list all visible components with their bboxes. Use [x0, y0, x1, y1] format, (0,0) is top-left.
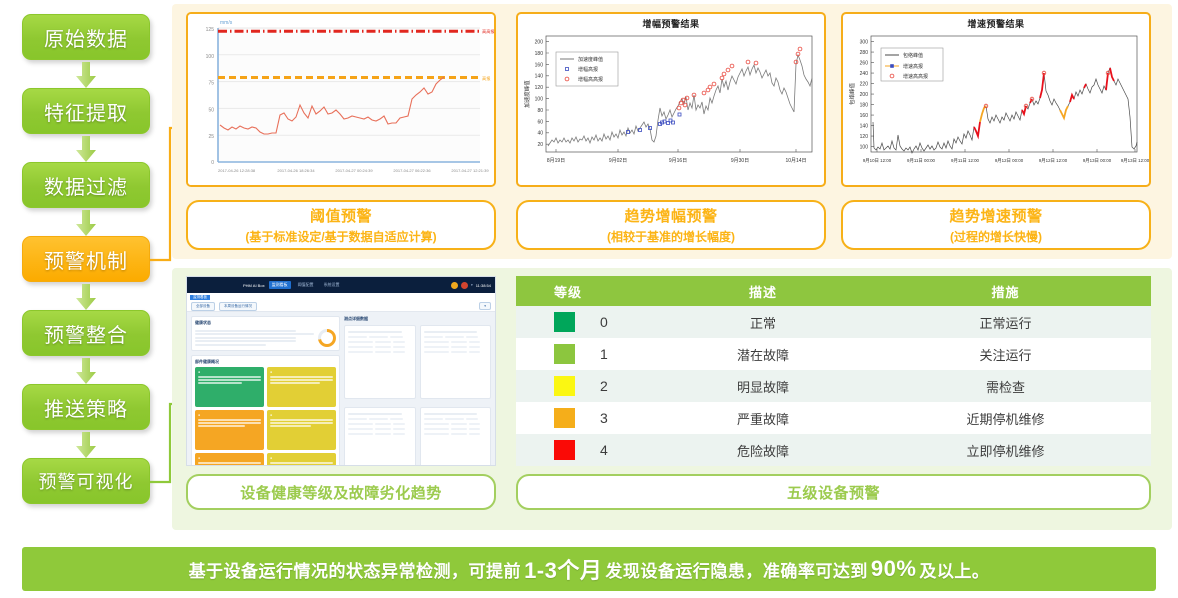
dashboard-tab-settings[interactable]: 系统设置: [321, 281, 343, 289]
caption-sub: (过程的增长快慢): [950, 228, 1042, 245]
action-cell: 正常运行: [860, 306, 1151, 338]
grade-color-swatch: [554, 440, 575, 460]
health-score-gauge: [318, 329, 336, 347]
flow-arrow-5: [75, 358, 97, 384]
description-cell: 危险故障: [666, 434, 860, 466]
action-cell: 需检查: [860, 370, 1151, 402]
svg-text:9月11日 12:00: 9月11日 12:00: [951, 158, 980, 164]
svg-text:160: 160: [535, 62, 544, 68]
alarm-mechanism-panel: 125 100 75 50 25 0 mm/s 高高报 高报 2017-04-2…: [172, 4, 1172, 259]
rate-alarm-caption: 趋势增速预警 (过程的增长快慢): [841, 200, 1151, 250]
svg-text:增幅高高报: 增幅高高报: [578, 76, 603, 83]
component-tile[interactable]: ●: [195, 367, 264, 407]
threshold-chart-card[interactable]: 125 100 75 50 25 0 mm/s 高高报 高报 2017-04-2…: [186, 12, 496, 187]
dashboard-body: 健康状态 部件健康概况 ●: [187, 312, 495, 466]
flow-node-raw-data[interactable]: 原始数据: [22, 14, 150, 60]
flow-arrow-3: [75, 210, 97, 236]
text-line: [195, 330, 296, 332]
level-value: 3: [600, 410, 608, 426]
svg-text:200: 200: [860, 92, 869, 98]
flow-node-alarm-mechanism[interactable]: 预警机制: [22, 236, 150, 282]
dashboard-topbar-right: ▾ 11:38:54: [451, 282, 491, 289]
card-title: 健康状态: [195, 320, 336, 326]
col-header-level: 等级: [516, 276, 666, 306]
svg-text:高报: 高报: [482, 75, 491, 82]
grade-color-swatch: [554, 376, 575, 396]
component-tile[interactable]: ●: [267, 410, 336, 450]
caption-title: 设备健康等级及故障劣化趋势: [240, 482, 442, 503]
alarm-visualization-panel: PHM AI Box 监测看板 阈值配置 系统设置 ▾ 11:38:54 监测看…: [172, 268, 1172, 530]
col-header-action: 措施: [860, 276, 1151, 306]
component-health-card[interactable]: 部件健康概况 ● ● ● ● ● ●: [191, 355, 340, 466]
banner-highlight-accuracy: 90%: [871, 556, 917, 582]
dashboard-caption: 设备健康等级及故障劣化趋势: [186, 474, 496, 510]
amplitude-chart-card[interactable]: 增幅预警结果 200180160 140120100 806040 20 加速度…: [516, 12, 826, 187]
svg-text:9月12日 00:00: 9月12日 00:00: [995, 158, 1024, 164]
svg-text:加速度峰值: 加速度峰值: [578, 56, 603, 63]
breadcrumb: 监测看板: [190, 295, 210, 300]
svg-text:9月30日: 9月30日: [731, 158, 749, 164]
amplitude-chart: 200180160 140120100 806040 20 加速度峰值: [518, 30, 824, 187]
shield-icon[interactable]: [451, 282, 458, 289]
rate-chart-card[interactable]: 增速预警结果 300280260 240220200 180160140 120…: [841, 12, 1151, 187]
dashboard-clock: 11:38:54: [476, 283, 491, 288]
svg-text:2017-04-27 12:21:39: 2017-04-27 12:21:39: [451, 168, 489, 173]
svg-text:加速度峰值: 加速度峰值: [523, 80, 531, 108]
amplitude-alarm-caption: 趋势增幅预警 (相较于基准的增长幅度): [516, 200, 826, 250]
caption-sub: (基于标准设定/基于数据自适应计算): [245, 228, 436, 245]
svg-text:9月13日 12:00: 9月13日 12:00: [1121, 158, 1149, 164]
filter-week-status-button[interactable]: 本周设备运行情况: [219, 302, 257, 311]
measurement-table[interactable]: [420, 325, 492, 399]
dashboard-tab-threshold[interactable]: 阈值配置: [295, 281, 317, 289]
grade-color-swatch: [554, 408, 575, 428]
flow-node-label: 特征提取: [44, 97, 128, 126]
dashboard-tab-monitor[interactable]: 监测看板: [269, 281, 291, 289]
caption-title: 趋势增速预警: [949, 205, 1042, 226]
svg-text:300: 300: [860, 40, 869, 46]
action-cell: 关注运行: [860, 338, 1151, 370]
dashboard-left-column: 健康状态 部件健康概况 ●: [191, 316, 340, 466]
flow-arrow-2: [75, 136, 97, 162]
svg-text:2017-04-27 00:24:39: 2017-04-27 00:24:39: [335, 168, 373, 173]
caption-title: 五级设备预警: [787, 482, 880, 503]
measurement-table[interactable]: [344, 407, 416, 466]
banner-part3: 及以上。: [919, 557, 989, 582]
level-cell: 3: [516, 402, 666, 434]
svg-text:80: 80: [537, 108, 543, 114]
flow-arrow-1: [75, 62, 97, 88]
flow-node-alarm-visualization[interactable]: 预警可视化: [22, 458, 150, 504]
flow-node-label: 预警整合: [44, 319, 128, 348]
svg-text:160: 160: [860, 113, 869, 119]
health-status-card[interactable]: 健康状态: [191, 316, 340, 351]
caption-title: 趋势增幅预警: [624, 205, 717, 226]
flow-arrow-6: [75, 432, 97, 458]
flow-node-alarm-integration[interactable]: 预警整合: [22, 310, 150, 356]
table-row[interactable]: 2 明显故障 需检查: [516, 370, 1151, 402]
flow-node-feature-extraction[interactable]: 特征提取: [22, 88, 150, 134]
level-cell: 0: [516, 306, 666, 338]
svg-text:25: 25: [208, 134, 214, 140]
col-header-description: 描述: [666, 276, 860, 306]
text-line: [195, 333, 314, 335]
component-tile[interactable]: ●: [195, 410, 264, 450]
description-cell: 正常: [666, 306, 860, 338]
svg-text:0: 0: [211, 160, 214, 166]
grade-color-swatch: [554, 344, 575, 364]
svg-text:240: 240: [860, 71, 869, 77]
svg-text:140: 140: [860, 124, 869, 130]
card-title: 测点详细数据: [344, 316, 491, 322]
svg-text:9月13日 00:00: 9月13日 00:00: [1083, 158, 1112, 164]
flow-node-label: 预警机制: [44, 245, 128, 274]
component-tile[interactable]: ●: [267, 453, 336, 466]
svg-text:增速高高报: 增速高高报: [903, 73, 928, 80]
text-line: [195, 337, 296, 339]
dashboard-user[interactable]: ▾: [471, 283, 473, 287]
svg-text:100: 100: [535, 97, 544, 103]
threshold-chart: 125 100 75 50 25 0 mm/s 高高报 高报 2017-04-2…: [188, 14, 494, 185]
caption-sub: (相较于基准的增长幅度): [607, 228, 735, 245]
svg-text:包络峰值: 包络峰值: [848, 83, 856, 106]
svg-text:200: 200: [535, 40, 544, 46]
flow-node-label: 预警可视化: [39, 468, 134, 494]
svg-text:75: 75: [208, 81, 214, 87]
dashboard-logo: PHM AI Box: [243, 283, 265, 288]
level-cell: 1: [516, 338, 666, 370]
svg-text:9月16日: 9月16日: [669, 158, 687, 164]
svg-text:180: 180: [535, 51, 544, 57]
svg-text:180: 180: [860, 103, 869, 109]
grade-table-caption: 五级设备预警: [516, 474, 1151, 510]
svg-text:20: 20: [537, 142, 543, 148]
description-cell: 严重故障: [666, 402, 860, 434]
component-tile[interactable]: ●: [267, 367, 336, 407]
card-title: 部件健康概况: [195, 359, 336, 365]
svg-text:2017-04-26 18:26:34: 2017-04-26 18:26:34: [277, 168, 315, 173]
text-line: [195, 344, 266, 346]
dashboard-right-column: 测点详细数据: [344, 316, 491, 466]
svg-text:100: 100: [860, 145, 869, 151]
svg-text:9月11日 00:00: 9月11日 00:00: [907, 158, 936, 164]
description-cell: 潜在故障: [666, 338, 860, 370]
threshold-alarm-caption: 阈值预警 (基于标准设定/基于数据自适应计算): [186, 200, 496, 250]
text-line: [195, 340, 296, 342]
filter-all-devices-button[interactable]: 全部设备: [191, 302, 215, 311]
svg-text:220: 220: [860, 82, 869, 88]
table-row[interactable]: 1 潜在故障 关注运行: [516, 338, 1151, 370]
svg-text:280: 280: [860, 50, 869, 56]
svg-text:2017-04-27 06:22:36: 2017-04-27 06:22:36: [393, 168, 431, 173]
description-cell: 明显故障: [666, 370, 860, 402]
device-grade-table: 等级 描述 措施 0 正常 正常运行 1 潜在故障 关注运行: [516, 276, 1151, 466]
flow-node-push-strategy[interactable]: 推送策略: [22, 384, 150, 430]
flow-node-data-filter[interactable]: 数据过滤: [22, 162, 150, 208]
caption-title: 阈值预警: [310, 205, 372, 226]
table-row[interactable]: 0 正常 正常运行: [516, 306, 1151, 338]
measurement-table-grid: [344, 325, 491, 466]
svg-text:9月10日 12:00: 9月10日 12:00: [863, 158, 892, 164]
svg-text:50: 50: [208, 107, 214, 113]
action-cell: 立即停机维修: [860, 434, 1151, 466]
alarm-icon[interactable]: [461, 282, 468, 289]
svg-text:增幅高报: 增幅高报: [578, 66, 598, 73]
svg-text:100: 100: [206, 54, 215, 60]
measurement-table[interactable]: [344, 325, 416, 399]
flow-node-label: 数据过滤: [44, 171, 128, 200]
svg-text:9月02日: 9月02日: [609, 158, 627, 164]
level-value: 2: [600, 378, 608, 394]
summary-banner: 基于设备运行情况的状态异常检测，可提前 1-3个月 发现设备运行隐患，准确率可达…: [22, 547, 1156, 591]
table-row[interactable]: 3 严重故障 近期停机维修: [516, 402, 1151, 434]
flow-node-label: 推送策略: [44, 393, 128, 422]
amplitude-chart-title: 增幅预警结果: [518, 14, 824, 30]
svg-text:60: 60: [537, 119, 543, 125]
grade-color-swatch: [554, 312, 575, 332]
svg-text:260: 260: [860, 61, 869, 67]
svg-text:mm/s: mm/s: [220, 20, 233, 26]
level-cell: 4: [516, 434, 666, 466]
health-dashboard-screenshot[interactable]: PHM AI Box 监测看板 阈值配置 系统设置 ▾ 11:38:54 监测看…: [186, 276, 496, 466]
svg-text:120: 120: [535, 85, 544, 91]
table-header-row: 等级 描述 措施: [516, 276, 1151, 306]
dashboard-toolbar: 全部设备 本周设备运行情况 ▾: [187, 301, 495, 312]
device-select[interactable]: ▾: [479, 302, 491, 310]
measurement-table[interactable]: [420, 407, 492, 466]
svg-text:125: 125: [206, 27, 215, 33]
dashboard-topbar: PHM AI Box 监测看板 阈值配置 系统设置 ▾ 11:38:54: [187, 277, 495, 293]
banner-highlight-months: 1-3个月: [524, 553, 602, 585]
svg-text:8月19日: 8月19日: [547, 158, 565, 164]
banner-part2: 发现设备运行隐患，准确率可达到: [605, 557, 868, 582]
level-cell: 2: [516, 370, 666, 402]
component-tile-grid: ● ● ● ● ● ●: [195, 367, 336, 466]
svg-text:9月12日 12:00: 9月12日 12:00: [1039, 158, 1068, 164]
svg-text:120: 120: [860, 134, 869, 140]
component-tile[interactable]: ●: [195, 453, 264, 466]
svg-text:2017-04-26 12:28:38: 2017-04-26 12:28:38: [218, 168, 256, 173]
flow-arrow-4: [75, 284, 97, 310]
svg-text:10月14日: 10月14日: [785, 158, 806, 164]
svg-text:40: 40: [537, 131, 543, 137]
dashboard-breadcrumb-bar: 监测看板: [187, 293, 495, 301]
svg-text:增速高报: 增速高报: [903, 63, 923, 70]
level-value: 0: [600, 314, 608, 330]
banner-part1: 基于设备运行情况的状态异常检测，可提前: [189, 557, 522, 582]
svg-text:高高报: 高高报: [482, 28, 494, 35]
rate-chart-title: 增速预警结果: [843, 14, 1149, 30]
level-value: 4: [600, 442, 608, 458]
svg-text:140: 140: [535, 74, 544, 80]
table-row[interactable]: 4 危险故障 立即停机维修: [516, 434, 1151, 466]
rate-chart: 300280260 240220200 180160140 120100 包络峰…: [843, 30, 1149, 187]
flow-node-label: 原始数据: [44, 23, 128, 52]
svg-text:包络峰值: 包络峰值: [903, 52, 923, 59]
action-cell: 近期停机维修: [860, 402, 1151, 434]
level-value: 1: [600, 346, 608, 362]
